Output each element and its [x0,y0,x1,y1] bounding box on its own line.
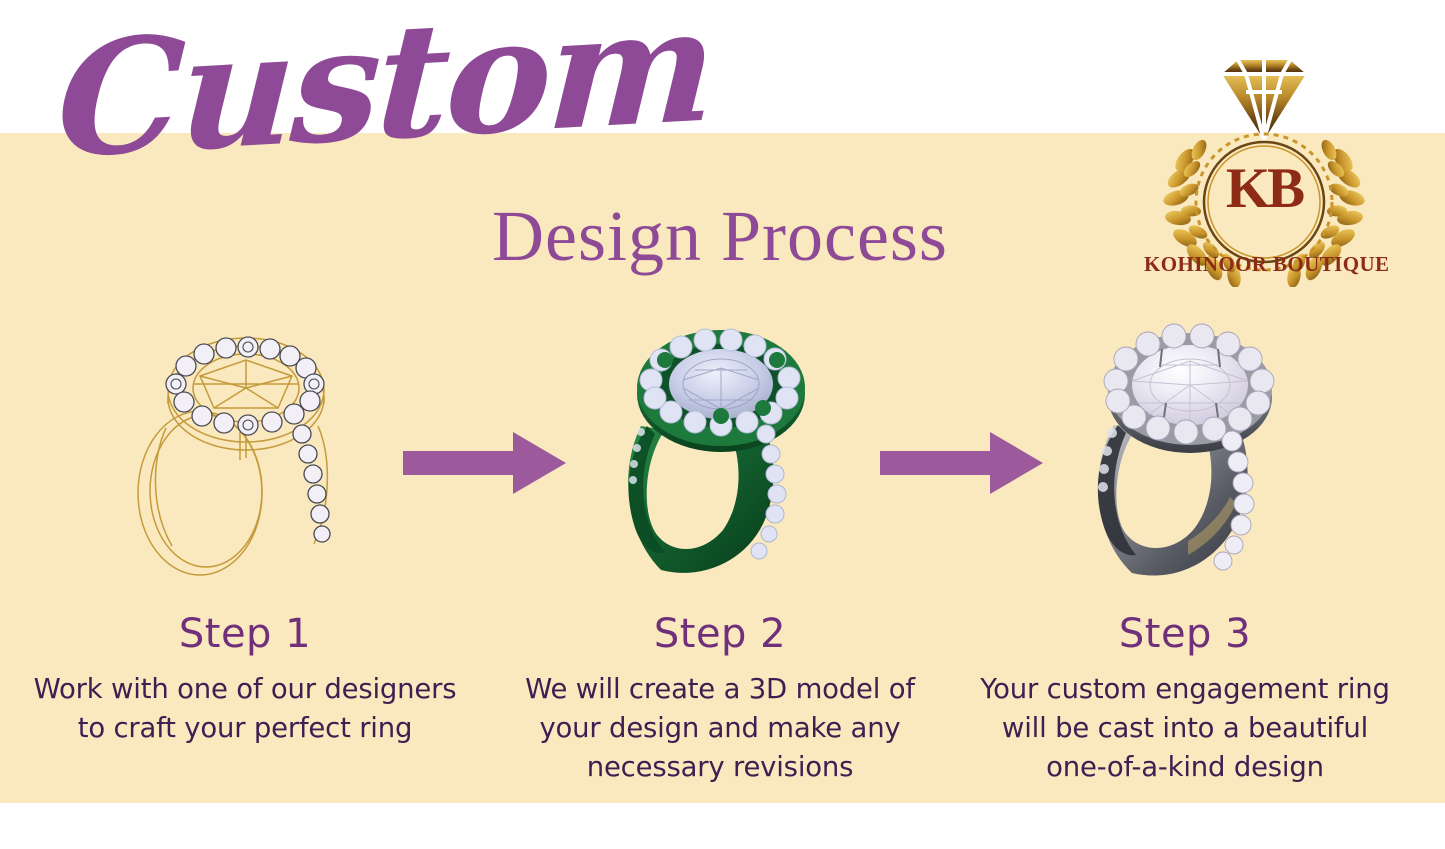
page-title-script: Custom [53,0,706,209]
step-title-3: Step 3 [965,612,1405,656]
page-title-serif: Design Process [492,196,948,276]
arrow-step2-to-step3-icon [880,432,1043,494]
step-description-1: Work with one of our designers to craft … [25,670,465,748]
infographic-canvas: Custom Design Process [0,0,1445,849]
arrow-step1-to-step2-icon [403,432,566,494]
step-column-2: Step 2 We will create a 3D model of your… [500,300,940,787]
step-column-3: Step 3 Your custom engagement ring will … [965,300,1405,787]
step-description-3: Your custom engagement ring will be cast… [965,670,1405,787]
step-column-1: Step 1 Work with one of our designers to… [25,300,465,748]
logo-monogram: KB [1144,160,1384,217]
step-title-2: Step 2 [500,612,940,656]
step-description-2: We will create a 3D model of your design… [500,670,940,787]
logo-brand-name: KOHINOOR BOUTIQUE [1144,252,1384,276]
ring-3d-cad-model [500,300,940,590]
brand-logo: KB KOHINOOR BOUTIQUE [1144,52,1384,287]
step-title-1: Step 1 [25,612,465,656]
ring-sketch-line-drawing [25,300,465,590]
